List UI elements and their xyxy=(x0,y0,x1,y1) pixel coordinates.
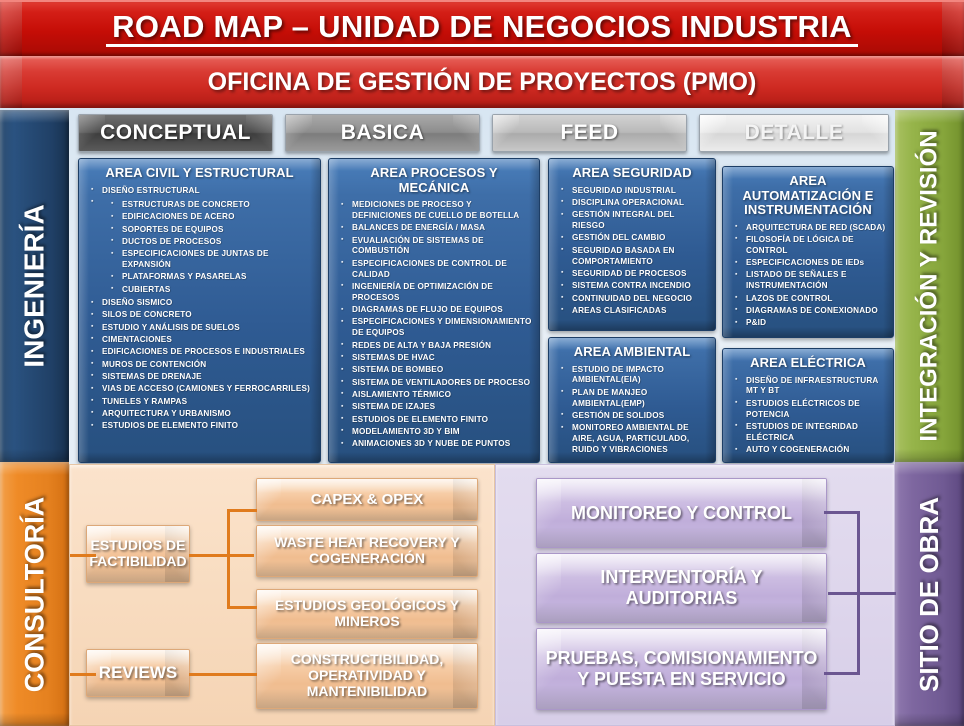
rail-sitio-label: SITIO DE OBRA xyxy=(914,496,945,691)
tab-bevel-left-icon xyxy=(493,115,519,151)
list-item: CIMENTACIONES xyxy=(91,335,313,346)
node-label: INTERVENTORÍA Y AUDITORIAS xyxy=(537,567,826,608)
list-item: ESTUDIOS DE ELEMENTO FINITO xyxy=(91,421,313,432)
rail-ingenieria: INGENIERÍA xyxy=(0,110,69,462)
list-item: ESPECIFICACIONES DE IEDs xyxy=(735,258,886,269)
connector-line xyxy=(70,673,96,676)
list-item: ESTRUCTURAS DE CONCRETO EDIFICACIONES DE… xyxy=(91,198,313,298)
list-item: P&ID xyxy=(735,318,886,329)
card-item-list: DISEÑO DE INFRAESTRUCTURA MT Y BT ESTUDI… xyxy=(723,376,893,463)
list-item: CUBIERTAS xyxy=(111,285,313,296)
connector-line xyxy=(824,511,860,514)
list-item: ESPECIFICACIONES DE JUNTAS DE EXPANSIÓN xyxy=(111,249,313,271)
list-item: EDIFICACIONES DE ACERO xyxy=(111,212,313,223)
node-bevel-left-icon xyxy=(537,479,561,547)
connector-line xyxy=(189,554,254,557)
node-estudios-factibilidad[interactable]: ESTUDIOS DE FACTIBILIDAD xyxy=(86,525,190,583)
node-bevel-left-icon xyxy=(257,479,281,520)
tab-bevel-right-icon xyxy=(862,115,888,151)
tab-detalle[interactable]: DETALLE xyxy=(699,114,889,152)
rail-integracion-label: INTEGRACIÓN Y REVISIÓN xyxy=(916,130,944,441)
card-bevel-bottom-icon xyxy=(79,452,320,462)
page-title: ROAD MAP – UNIDAD DE NEGOCIOS INDUSTRIA xyxy=(106,11,858,48)
list-item: SISTEMAS DE HVAC xyxy=(341,353,532,364)
node-waste-heat-recovery[interactable]: WASTE HEAT RECOVERY Y COGENERACIÓN xyxy=(256,525,478,577)
list-item: MODELAMIENTO 3D Y BIM xyxy=(341,427,532,438)
list-item: SISTEMA DE IZAJES xyxy=(341,402,532,413)
list-item: EVUALIACIÓN DE SISTEMAS DE COMBUSTIÓN xyxy=(341,236,532,258)
rail-integracion-revision: INTEGRACIÓN Y REVISIÓN xyxy=(895,110,964,462)
list-item: DISEÑO DE INFRAESTRUCTURA MT Y BT xyxy=(735,376,886,398)
card-item-list: ARQUITECTURA DE RED (SCADA) FILOSOFÍA DE… xyxy=(723,223,893,337)
list-item: DUCTOS DE PROCESOS xyxy=(111,237,313,248)
node-reviews[interactable]: REVIEWS xyxy=(86,649,190,697)
list-item: ARQUITECTURA DE RED (SCADA) xyxy=(735,223,886,234)
list-item: SEGURIDAD INDUSTRIAL xyxy=(561,186,708,197)
list-item: ESTUDIOS DE ELEMENTO FINITO xyxy=(341,415,532,426)
roadmap-diagram: ROAD MAP – UNIDAD DE NEGOCIOS INDUSTRIA … xyxy=(0,0,964,726)
list-item: ESPECIFICACIONES DE CONTROL DE CALIDAD xyxy=(341,259,532,281)
list-item: ANIMACIONES 3D Y NUBE DE PUNTOS xyxy=(341,439,532,450)
rail-consultoria: CONSULTORÍA xyxy=(0,462,69,726)
list-item: VIAS DE ACCESO (CAMIONES Y FERROCARRILES… xyxy=(91,384,313,395)
card-title: AREA AUTOMATIZACIÓN E INSTRUMENTACIÓN xyxy=(723,167,893,223)
list-item: GESTIÓN INTEGRAL DEL RIESGO xyxy=(561,210,708,232)
connector-line xyxy=(227,509,257,512)
panel-consultoria: ESTUDIOS DE FACTIBILIDAD REVIEWS CAPEX &… xyxy=(69,464,495,726)
list-item: SEGURIDAD DE PROCESOS xyxy=(561,269,708,280)
connector-line xyxy=(824,672,860,675)
list-item: EDIFICACIONES DE PROCESOS E INDUSTRIALES xyxy=(91,347,313,358)
card-title: AREA PROCESOS Y MECÁNICA xyxy=(329,159,539,200)
card-item-list: ESTUDIO DE IMPACTO AMBIENTAL(EIA) PLAN D… xyxy=(549,365,715,463)
list-item: SOPORTES DE EQUIPOS xyxy=(111,225,313,236)
node-estudios-geologicos-mineros[interactable]: ESTUDIOS GEOLÓGICOS Y MINEROS xyxy=(256,589,478,639)
node-constructibilidad[interactable]: CONSTRUCTIBILIDAD, OPERATIVIDAD Y MANTEN… xyxy=(256,643,478,709)
node-label: WASTE HEAT RECOVERY Y COGENERACIÓN xyxy=(257,535,477,567)
list-item: AISLAMIENTO TÉRMICO xyxy=(341,390,532,401)
tab-conceptual-label: CONCEPTUAL xyxy=(100,121,251,145)
page-subtitle: OFICINA DE GESTIÓN DE PROYECTOS (PMO) xyxy=(208,68,757,97)
node-bevel-right-icon xyxy=(802,479,826,547)
list-item: GESTIÓN DE SOLIDOS xyxy=(561,411,708,422)
list-item: MUROS DE CONTENCIÓN xyxy=(91,360,313,371)
card-item-list: DISEÑO ESTRUCTURAL ESTRUCTURAS DE CONCRE… xyxy=(79,186,320,440)
tab-feed[interactable]: FEED xyxy=(492,114,687,152)
node-label: CONSTRUCTIBILIDAD, OPERATIVIDAD Y MANTEN… xyxy=(257,652,477,700)
subtitle-banner: OFICINA DE GESTIÓN DE PROYECTOS (PMO) xyxy=(0,56,964,108)
list-item: LAZOS DE CONTROL xyxy=(735,294,886,305)
list-item: SISTEMA DE BOMBEO xyxy=(341,365,532,376)
card-item-list: SEGURIDAD INDUSTRIAL DISCIPLINA OPERACIO… xyxy=(549,186,715,325)
tab-bevel-left-icon xyxy=(286,115,312,151)
list-item: TUNELES Y RAMPAS xyxy=(91,397,313,408)
connector-line xyxy=(70,554,96,557)
tab-bevel-right-icon xyxy=(453,115,479,151)
node-bevel-bottom-icon xyxy=(537,527,826,547)
main-title-banner: ROAD MAP – UNIDAD DE NEGOCIOS INDUSTRIA xyxy=(0,0,964,56)
list-item: AUTO Y COGENERACIÓN xyxy=(735,445,886,456)
list-item: PLAN DE MANJEO AMBIENTAL(EMP) xyxy=(561,388,708,410)
card-area-procesos-mecanica[interactable]: AREA PROCESOS Y MECÁNICA MEDICIONES DE P… xyxy=(328,158,540,463)
panel-sitio-de-obra: MONITOREO Y CONTROL INTERVENTORÍA Y AUDI… xyxy=(495,464,895,726)
list-item: ESTUDIOS ELÉCTRICOS DE POTENCIA xyxy=(735,399,886,421)
node-bevel-bottom-icon xyxy=(257,508,477,520)
node-interventoria-auditorias[interactable]: INTERVENTORÍA Y AUDITORIAS xyxy=(536,553,827,623)
list-item: SISTEMAS DE DRENAJE xyxy=(91,372,313,383)
card-title: AREA AMBIENTAL xyxy=(549,338,715,365)
node-monitoreo-control[interactable]: MONITOREO Y CONTROL xyxy=(536,478,827,548)
node-bevel-right-icon xyxy=(453,479,477,520)
card-sub-list: ESTRUCTURAS DE CONCRETO EDIFICACIONES DE… xyxy=(91,198,313,298)
node-label: PRUEBAS, COMISIONAMIENTO Y PUESTA EN SER… xyxy=(537,648,826,689)
list-item: DIAGRAMAS DE FLUJO DE EQUIPOS xyxy=(341,305,532,316)
rail-ingenieria-label: INGENIERÍA xyxy=(19,204,51,367)
tab-feed-label: FEED xyxy=(560,121,618,145)
rail-sitio-de-obra: SITIO DE OBRA xyxy=(895,462,964,726)
node-label: CAPEX & OPEX xyxy=(303,491,432,508)
list-item: ESPECIFICACIONES Y DIMENSIONAMIENTO DE E… xyxy=(341,317,532,339)
tab-basica[interactable]: BASICA xyxy=(285,114,480,152)
node-label: ESTUDIOS DE FACTIBILIDAD xyxy=(86,538,190,570)
tab-detalle-label: DETALLE xyxy=(745,121,844,145)
node-label: ESTUDIOS GEOLÓGICOS Y MINEROS xyxy=(257,598,477,630)
rail-consultoria-label: CONSULTORÍA xyxy=(19,496,50,692)
list-item: REDES DE ALTA Y BAJA PRESIÓN xyxy=(341,341,532,352)
list-item: ESTRUCTURAS DE CONCRETO xyxy=(111,200,313,211)
card-title: AREA SEGURIDAD xyxy=(549,159,715,186)
connector-line xyxy=(227,606,257,609)
list-item: BALANCES DE ENERGÍA / MASA xyxy=(341,223,532,234)
list-item: DIAGRAMAS DE CONEXIONADO xyxy=(735,306,886,317)
node-label: REVIEWS xyxy=(91,663,185,682)
list-item: PLATAFORMAS Y PASARELAS xyxy=(111,272,313,283)
card-area-civil-estructural[interactable]: AREA CIVIL Y ESTRUCTURAL DISEÑO ESTRUCTU… xyxy=(78,158,321,463)
list-item: ESTUDIOS DE INTEGRIDAD ELÉCTRICA xyxy=(735,422,886,444)
list-item: ARQUITECTURA Y URBANISMO xyxy=(91,409,313,420)
list-item: SEGURIDAD BASADA EN COMPORTAMIENTO xyxy=(561,246,708,268)
list-item: ESTUDIO Y ANÁLISIS DE SUELOS xyxy=(91,323,313,334)
node-pruebas-comisionamiento[interactable]: PRUEBAS, COMISIONAMIENTO Y PUESTA EN SER… xyxy=(536,628,827,710)
node-label: MONITOREO Y CONTROL xyxy=(563,503,800,524)
connector-line xyxy=(828,592,896,595)
list-item: SISTEMA DE VENTILADORES DE PROCESO xyxy=(341,378,532,389)
card-item-list: MEDICIONES DE PROCESO Y DEFINICIONES DE … xyxy=(329,200,539,457)
list-item: INGENIERÍA DE OPTIMIZACIÓN DE PROCESOS xyxy=(341,282,532,304)
list-item: SILOS DE CONCRETO xyxy=(91,310,313,321)
tab-bevel-right-icon xyxy=(660,115,686,151)
list-item: DISEÑO SISMICO xyxy=(91,298,313,309)
connector-line xyxy=(189,673,257,676)
connector-line xyxy=(227,509,230,609)
card-area-automatizacion-instrumentacion[interactable]: AREA AUTOMATIZACIÓN E INSTRUMENTACIÓN AR… xyxy=(722,166,894,338)
card-title: AREA ELÉCTRICA xyxy=(723,349,893,376)
list-item: ESTUDIO DE IMPACTO AMBIENTAL(EIA) xyxy=(561,365,708,387)
list-item: CONTINUIDAD DEL NEGOCIO xyxy=(561,294,708,305)
tab-conceptual[interactable]: CONCEPTUAL xyxy=(78,114,273,152)
node-bevel-top-icon xyxy=(537,479,826,502)
list-item: MONITOREO AMBIENTAL DE AIRE, AGUA, PARTI… xyxy=(561,423,708,455)
card-title: AREA CIVIL Y ESTRUCTURAL xyxy=(79,159,320,186)
card-area-electrica[interactable]: AREA ELÉCTRICA DISEÑO DE INFRAESTRUCTURA… xyxy=(722,348,894,463)
tab-basica-label: BASICA xyxy=(341,121,425,145)
list-item: GESTIÓN DEL CAMBIO xyxy=(561,233,708,244)
list-item: SISTEMA CONTRA INCENDIO xyxy=(561,281,708,292)
card-area-ambiental[interactable]: AREA AMBIENTAL ESTUDIO DE IMPACTO AMBIEN… xyxy=(548,337,716,463)
list-item: AREAS CLASIFICADAS xyxy=(561,306,708,317)
node-capex-opex[interactable]: CAPEX & OPEX xyxy=(256,478,478,521)
card-area-seguridad[interactable]: AREA SEGURIDAD SEGURIDAD INDUSTRIAL DISC… xyxy=(548,158,716,331)
list-item: DISCIPLINA OPERACIONAL xyxy=(561,198,708,209)
list-item: FILOSOFÍA DE LÓGICA DE CONTROL xyxy=(735,235,886,257)
list-item: LISTADO DE SEÑALES E INSTRUMENTACIÓN xyxy=(735,270,886,292)
list-item: MEDICIONES DE PROCESO Y DEFINICIONES DE … xyxy=(341,200,532,222)
tab-bevel-left-icon xyxy=(700,115,726,151)
list-item: DISEÑO ESTRUCTURAL xyxy=(91,186,313,197)
